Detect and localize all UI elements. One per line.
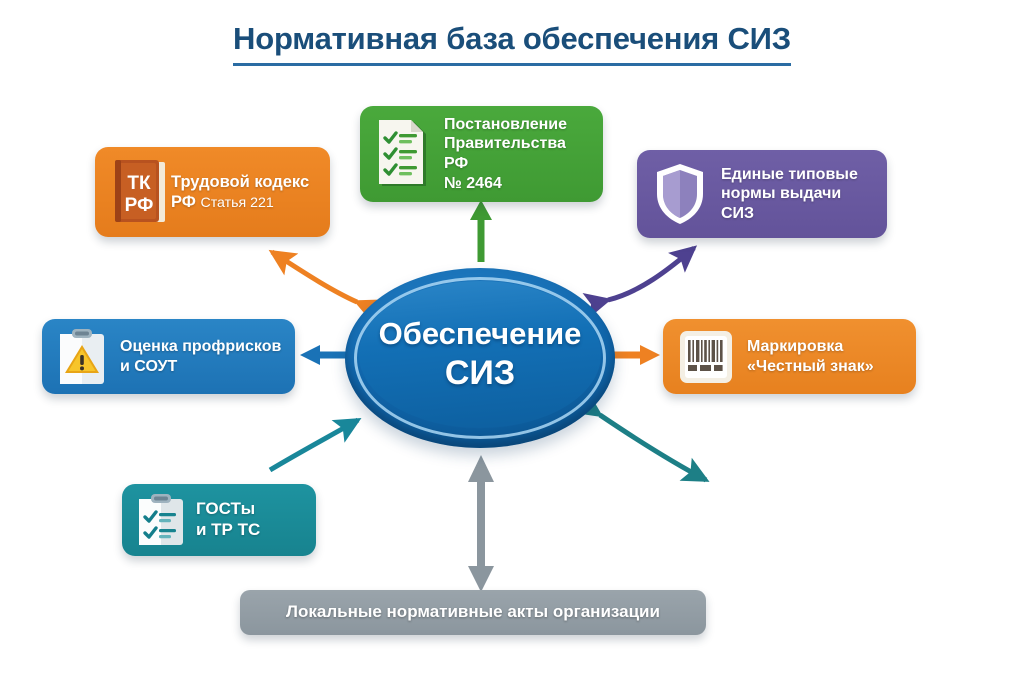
node-label-line1: Единые типовые xyxy=(721,165,875,185)
node-gosty[interactable]: ГОСТы и ТР ТС xyxy=(122,484,316,556)
node-label-line2: РФ xyxy=(171,193,196,211)
node-markirovka[interactable]: Маркировка «Честный знак» xyxy=(663,319,916,394)
arrow-mark xyxy=(613,345,660,365)
arrow-local xyxy=(468,455,494,592)
node-label-line2: нормы выдачи СИЗ xyxy=(721,184,875,223)
node-label-line2: и СОУТ xyxy=(120,357,281,377)
node-lokalnye-akty[interactable]: Локальные нормативные акты организации xyxy=(240,590,706,635)
barcode-icon xyxy=(677,328,735,386)
document-checklist-icon xyxy=(374,118,434,190)
node-edinye-normy[interactable]: Единые типовые нормы выдачи СИЗ xyxy=(637,150,887,238)
title-container: Нормативная база обеспечения СИЗ xyxy=(0,22,1024,66)
node-label-line1: Маркировка xyxy=(747,337,874,357)
node-label: Постановление Правительства РФ № 2464 xyxy=(444,115,593,193)
node-trudovoy-kodeks[interactable]: ТК РФ Трудовой кодекс РФ Статья 221 xyxy=(95,147,330,237)
arrow-norm xyxy=(608,248,694,300)
node-label-line3: № 2464 xyxy=(444,174,593,194)
arrow-risk xyxy=(300,345,348,365)
node-label: Единые типовые нормы выдачи СИЗ xyxy=(721,165,875,224)
center-ellipse-ring xyxy=(354,277,606,439)
node-ocenka-profriskov[interactable]: Оценка профрисков и СОУТ xyxy=(42,319,295,394)
node-label-line2: Правительства РФ xyxy=(444,134,593,173)
arrow-lower-right xyxy=(600,415,706,480)
diagram-canvas: Нормативная база обеспечения СИЗ xyxy=(0,0,1024,683)
node-label-line2: «Честный знак» xyxy=(747,357,874,377)
node-label: Трудовой кодекс РФ Статья 221 xyxy=(171,172,309,212)
clipboard-check-icon xyxy=(134,491,188,549)
page-title: Нормативная база обеспечения СИЗ xyxy=(233,22,791,66)
arrow-pp xyxy=(470,200,492,262)
node-label-line1: Постановление xyxy=(444,115,593,135)
node-label: ГОСТы и ТР ТС xyxy=(196,499,260,540)
node-label: Оценка профрисков и СОУТ xyxy=(120,337,281,376)
node-label-line1: Трудовой кодекс xyxy=(171,172,309,192)
svg-text:РФ: РФ xyxy=(125,195,154,216)
node-postanovlenie[interactable]: Постановление Правительства РФ № 2464 xyxy=(360,106,603,202)
center-hub[interactable]: Обеспечение СИЗ xyxy=(345,268,615,448)
shield-icon xyxy=(651,161,709,227)
node-label-line2-wrap: РФ Статья 221 xyxy=(171,192,309,212)
node-label-line1: Оценка профрисков xyxy=(120,337,281,357)
node-label-sub: Статья 221 xyxy=(200,195,273,211)
node-label-line1: ГОСТы xyxy=(196,499,260,520)
clipboard-warning-icon xyxy=(54,327,110,387)
node-label-line2: и ТР ТС xyxy=(196,520,260,541)
book-icon: ТК РФ xyxy=(109,157,171,227)
node-label: Локальные нормативные акты организации xyxy=(286,602,660,623)
node-label: Маркировка «Честный знак» xyxy=(747,337,874,376)
svg-text:ТК: ТК xyxy=(127,173,151,194)
